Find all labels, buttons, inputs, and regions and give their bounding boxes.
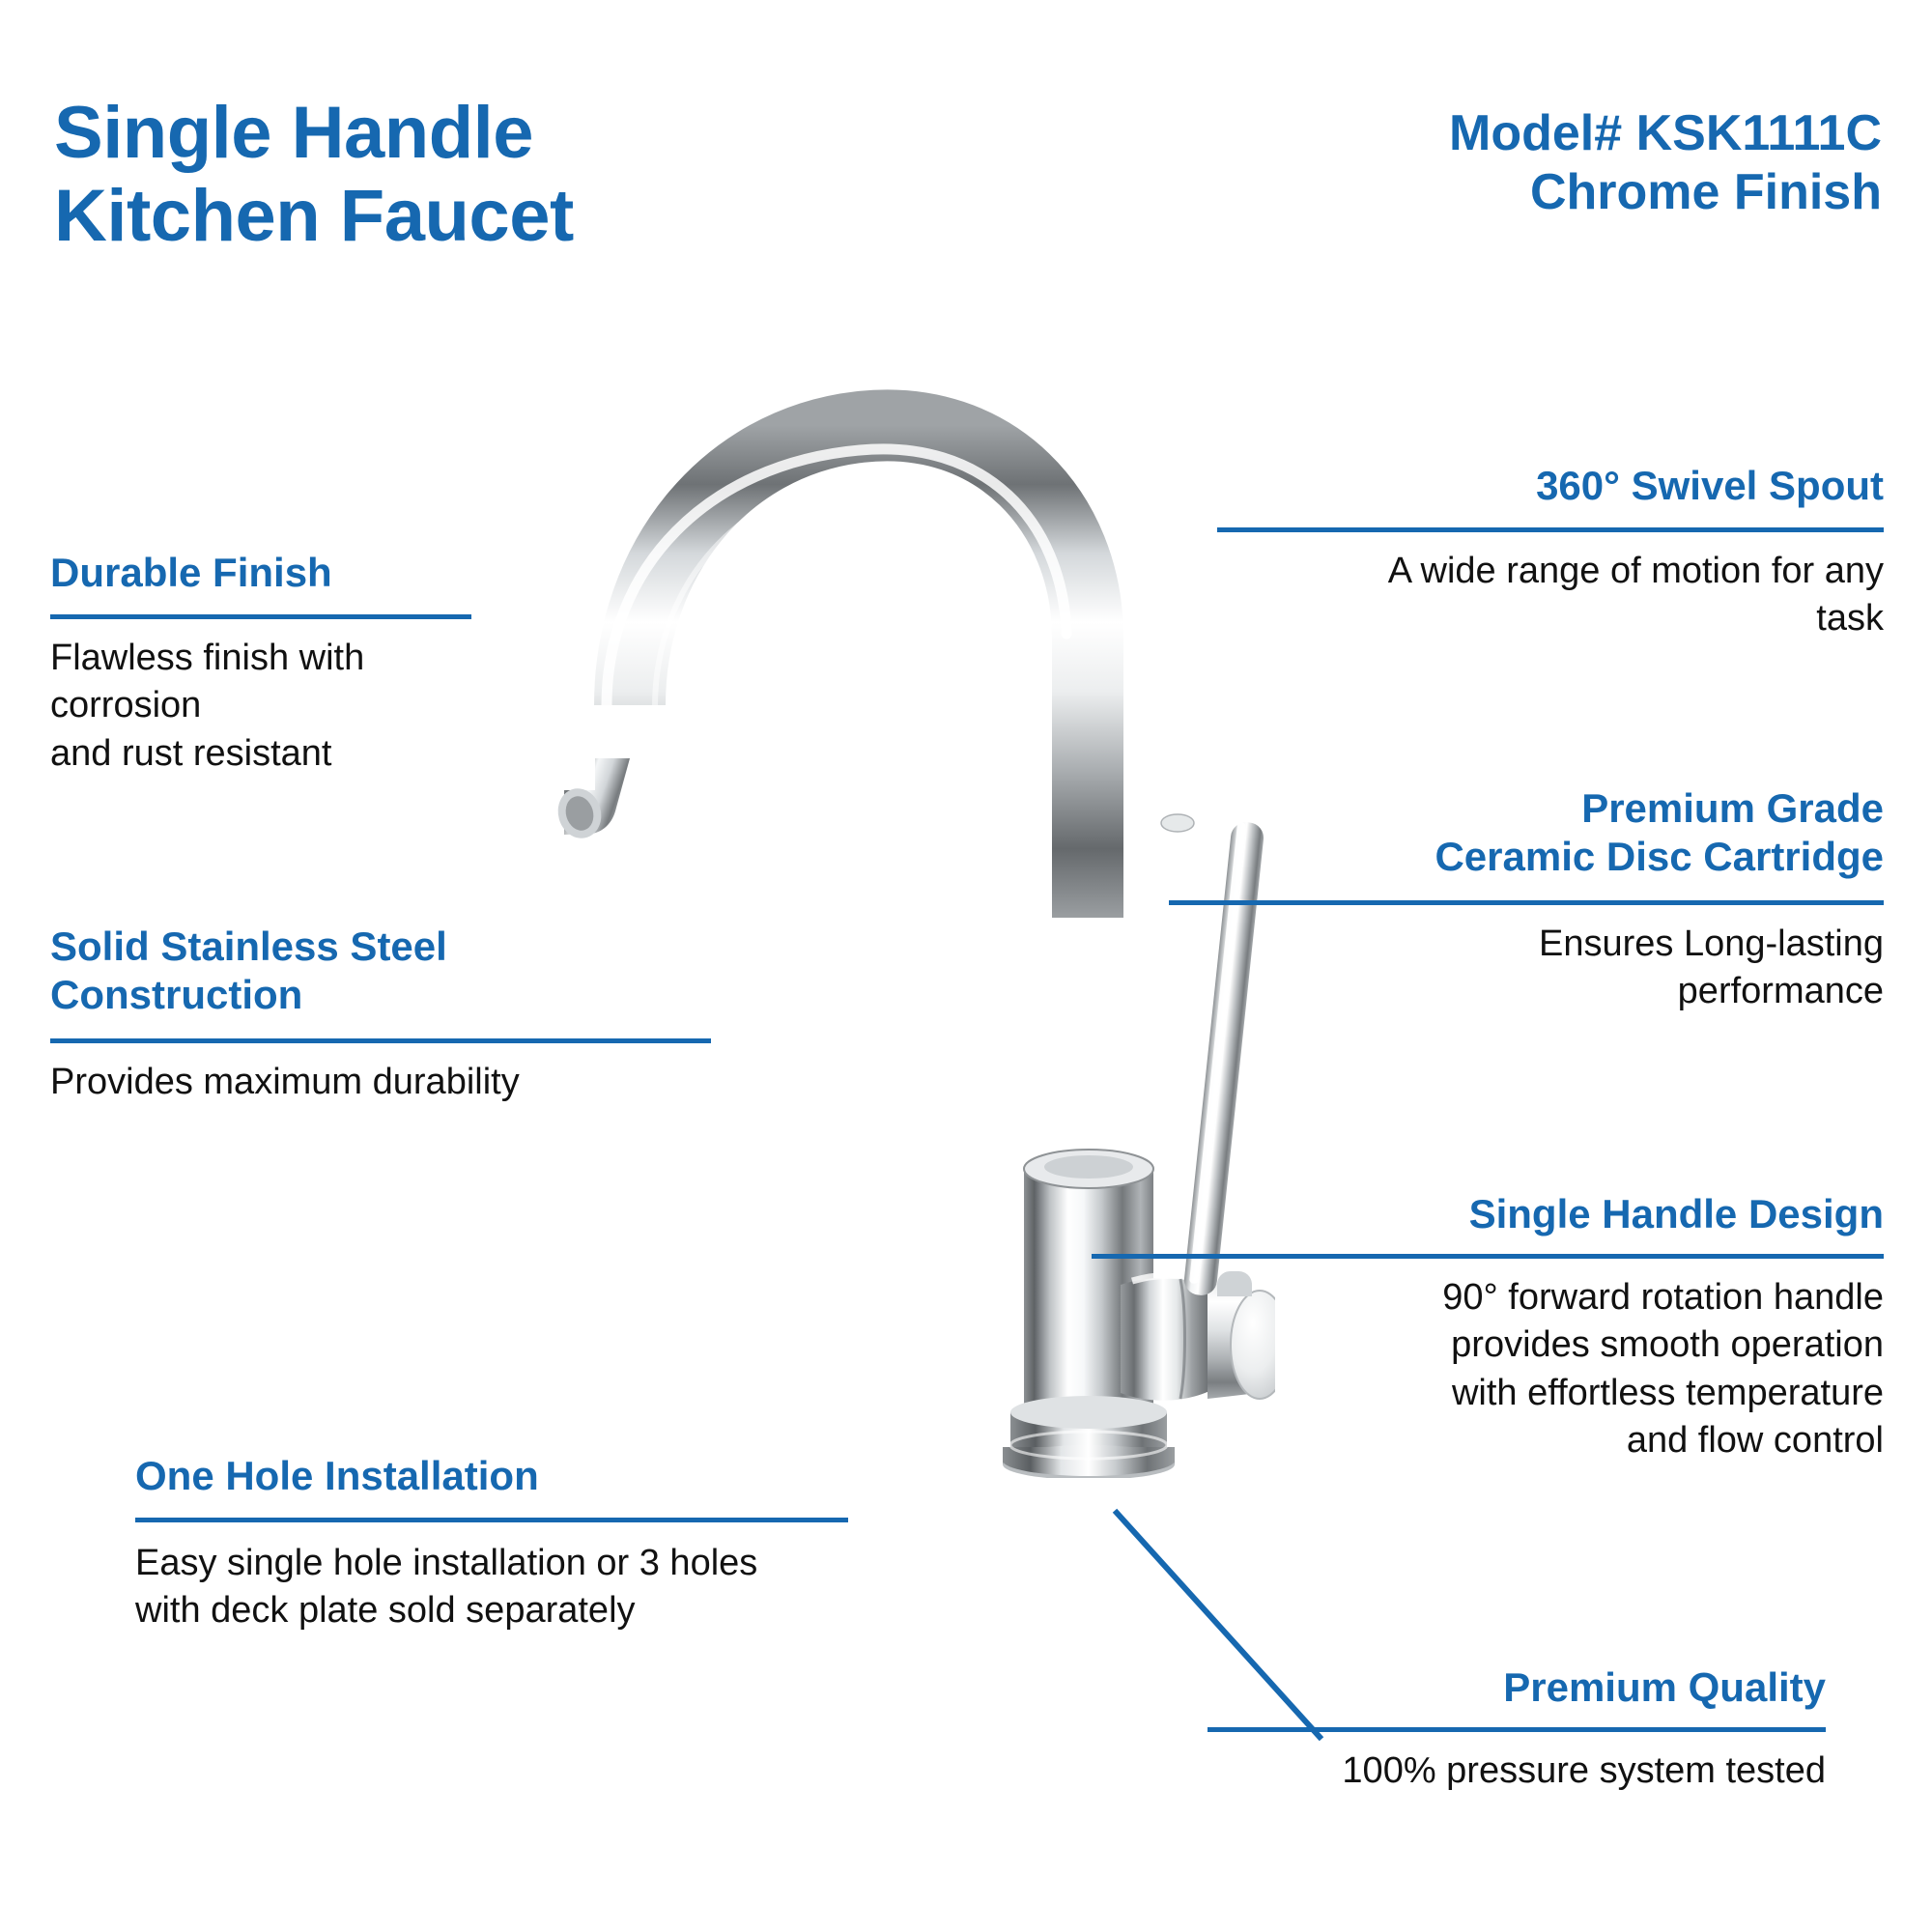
model-number-block: Model# KSK1111C Chrome Finish [1206,104,1882,222]
callout-rule [1207,1727,1826,1732]
callout-single-handle-design: Single Handle Design 90° forward rotatio… [1082,1190,1884,1465]
callout-body: A wide range of motion for any task [1092,548,1884,643]
callout-swivel-spout: 360° Swivel Spout A wide range of motion… [1092,462,1884,643]
callout-body: Easy single hole installation or 3 holes… [135,1540,869,1635]
callout-body: 90° forward rotation handle provides smo… [1082,1274,1884,1465]
model-number: Model# KSK1111C [1206,104,1882,163]
callout-rule [50,1038,711,1043]
callout-one-hole-installation: One Hole Installation Easy single hole i… [135,1452,869,1635]
callout-heading: Single Handle Design [1082,1190,1884,1238]
infographic-canvas: Single Handle Kitchen Faucet Model# KSK1… [0,0,1932,1932]
callout-heading: 360° Swivel Spout [1092,462,1884,510]
callout-heading: One Hole Installation [135,1452,869,1500]
callout-heading: Premium Grade Ceramic Disc Cartridge [1092,784,1884,881]
callout-rule [135,1518,848,1522]
callout-premium-quality: Premium Quality 100% pressure system tes… [1169,1663,1826,1795]
page-title: Single Handle Kitchen Faucet [54,92,923,258]
callout-rule [1169,900,1884,905]
finish-name: Chrome Finish [1206,163,1882,222]
callout-rule [1092,1254,1884,1259]
callout-rule [50,614,471,619]
callout-heading: Durable Finish [50,549,668,597]
callout-body: Flawless finish with corrosion and rust … [50,635,485,778]
page-title-line-2: Kitchen Faucet [54,175,923,258]
callout-durable-finish: Durable Finish Flawless finish with corr… [50,549,668,778]
callout-rule [1217,527,1884,532]
callout-body: Ensures Long-lasting performance [1092,921,1884,1016]
callout-body: Provides maximum durability [50,1059,784,1106]
page-title-line-1: Single Handle [54,92,923,175]
callout-stainless-steel: Solid Stainless Steel Construction Provi… [50,923,784,1106]
callout-heading: Solid Stainless Steel Construction [50,923,784,1019]
callout-heading: Premium Quality [1169,1663,1826,1712]
callout-body: 100% pressure system tested [1169,1747,1826,1795]
callout-ceramic-disc-cartridge: Premium Grade Ceramic Disc Cartridge Ens… [1092,784,1884,1016]
